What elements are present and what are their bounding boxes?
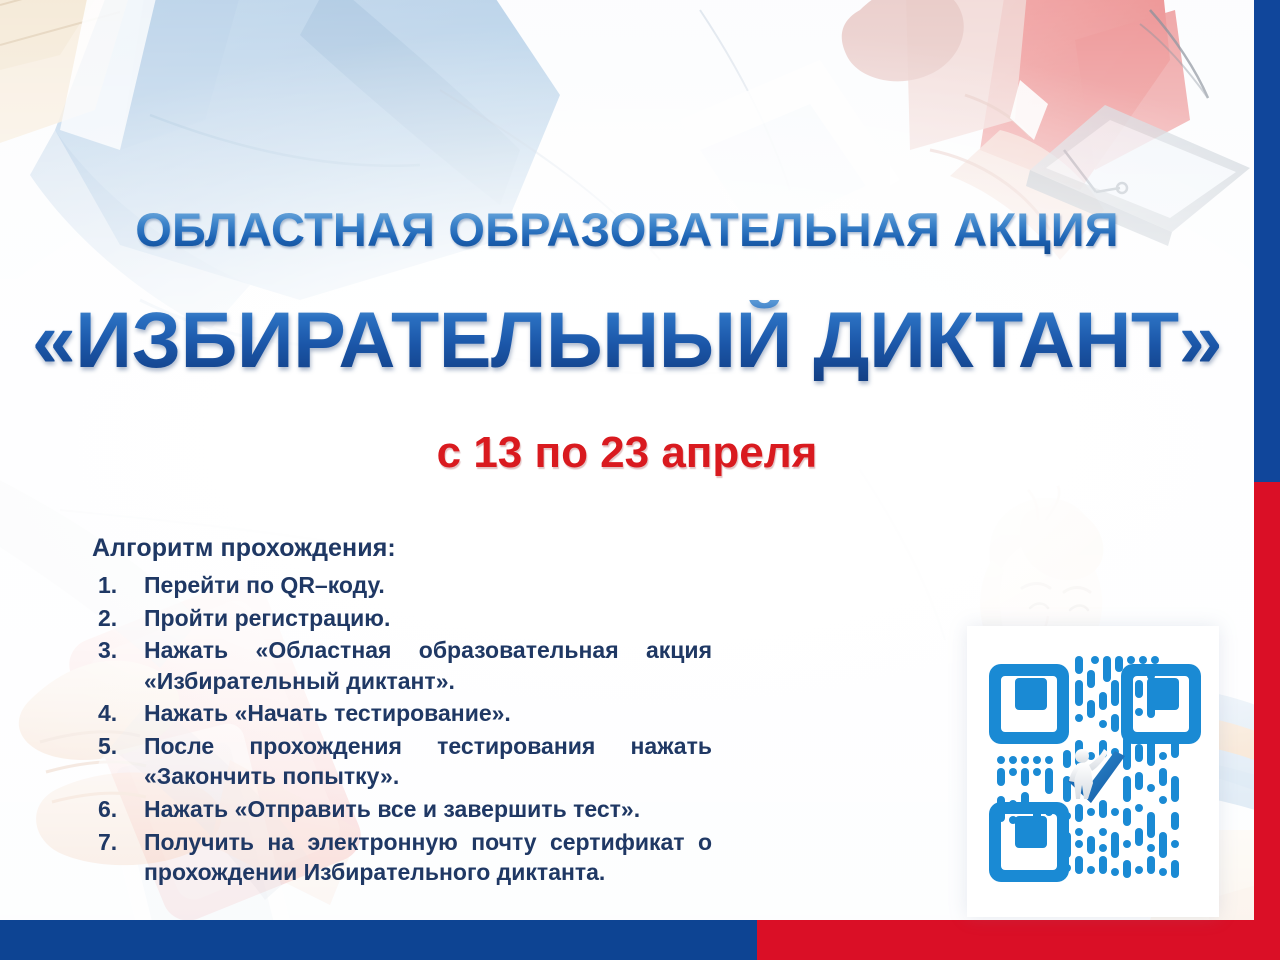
algorithm-heading: Алгоритм прохождения: [92, 534, 712, 563]
poster-canvas: ОБЛАСТНАЯ ОБРАЗОВАТЕЛЬНАЯ АКЦИЯ «ИЗБИРАТ… [0, 0, 1280, 960]
algorithm-block: Алгоритм прохождения: 1. Перейти по QR–к… [92, 534, 712, 890]
poster-title: «ИЗБИРАТЕЛЬНЫЙ ДИКТАНТ» [0, 300, 1254, 381]
qr-code-card[interactable] [967, 626, 1219, 917]
list-item: 4. Нажать «Начать тестирование». [92, 698, 712, 729]
right-stripe-red [1254, 482, 1280, 960]
list-item-number: 2. [92, 603, 144, 634]
right-flag-stripe [1254, 0, 1280, 960]
person-with-checkmark-icon [1055, 743, 1131, 811]
list-item-text: Нажать «Областная образовательная акция … [144, 635, 712, 696]
poster-kicker: ОБЛАСТНАЯ ОБРАЗОВАТЕЛЬНАЯ АКЦИЯ [0, 205, 1254, 254]
list-item-text: Получить на электронную почту сертификат… [144, 827, 712, 888]
list-item-number: 5. [92, 731, 144, 762]
poster-dates: с 13 по 23 апреля [0, 428, 1254, 478]
right-stripe-blue [1254, 0, 1280, 482]
list-item: 3. Нажать «Областная образовательная акц… [92, 635, 712, 696]
list-item: 5. После прохождения тестирования нажать… [92, 731, 712, 792]
list-item-text: После прохождения тестирования нажать «З… [144, 731, 712, 792]
list-item-number: 6. [92, 794, 144, 825]
list-item-text: Пройти регистрацию. [144, 603, 712, 634]
list-item: 6. Нажать «Отправить все и завершить тес… [92, 794, 712, 825]
bottom-stripe-blue [0, 920, 757, 960]
list-item: 7. Получить на электронную почту сертифи… [92, 827, 712, 888]
list-item-text: Перейти по QR–коду. [144, 570, 712, 601]
bottom-flag-stripe [0, 920, 1280, 960]
bottom-stripe-red [757, 920, 1280, 960]
list-item: 2. Пройти регистрацию. [92, 603, 712, 634]
list-item-number: 3. [92, 635, 144, 666]
list-item-number: 7. [92, 827, 144, 858]
list-item-number: 4. [92, 698, 144, 729]
list-item-text: Нажать «Начать тестирование». [144, 698, 712, 729]
list-item-number: 1. [92, 570, 144, 601]
list-item: 1. Перейти по QR–коду. [92, 570, 712, 601]
algorithm-list: 1. Перейти по QR–коду. 2. Пройти регистр… [92, 570, 712, 888]
list-item-text: Нажать «Отправить все и завершить тест». [144, 794, 712, 825]
